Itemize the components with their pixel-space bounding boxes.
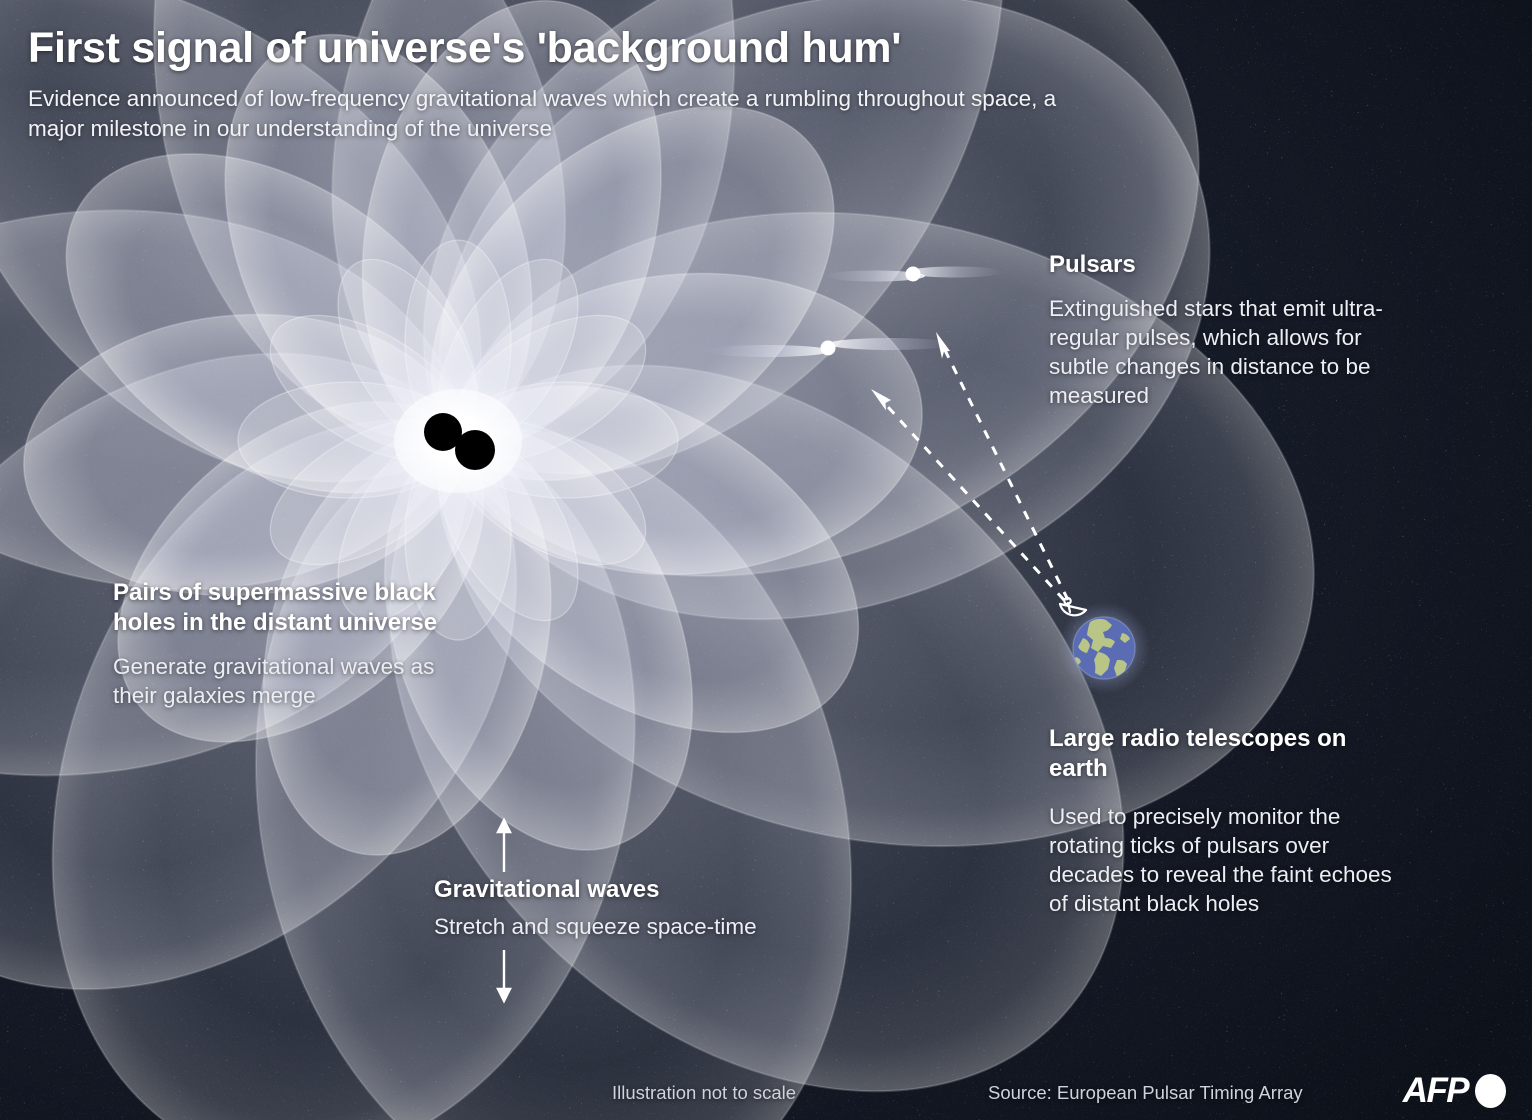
annotation-gravitational-waves-heading: Gravitational waves (434, 875, 854, 905)
afp-logo-text: AFP (1403, 1073, 1468, 1108)
page-title: First signal of universe's 'background h… (28, 26, 1148, 71)
source-credit: Source: European Pulsar Timing Array (988, 1082, 1303, 1104)
page-subtitle: Evidence announced of low-frequency grav… (28, 84, 1088, 143)
afp-dot-icon (1475, 1074, 1506, 1108)
annotation-black-holes-heading: Pairs of supermassive black holes in the… (113, 578, 443, 638)
illustration-scale-note: Illustration not to scale (612, 1082, 796, 1104)
annotation-pulsars-heading: Pulsars (1049, 250, 1409, 280)
annotation-black-holes: Pairs of supermassive black holes in the… (113, 578, 443, 711)
header-block: First signal of universe's 'background h… (28, 26, 1148, 143)
footer-block: Illustration not to scale Source: Europe… (0, 1060, 1532, 1120)
annotation-gravitational-waves-body: Stretch and squeeze space-time (434, 912, 854, 941)
infographic-canvas: First signal of universe's 'background h… (0, 0, 1532, 1120)
annotation-telescopes-body: Used to precisely monitor the rotating t… (1049, 803, 1394, 919)
annotation-black-holes-body: Generate gravitational waves as their ga… (113, 652, 443, 710)
annotation-telescopes: Large radio telescopes on earth Used to … (1049, 724, 1394, 919)
annotation-pulsars: Pulsars Extinguished stars that emit ult… (1049, 250, 1409, 410)
annotation-telescopes-heading: Large radio telescopes on earth (1049, 724, 1394, 784)
afp-logo: AFP (1403, 1073, 1506, 1108)
annotation-gravitational-waves: Gravitational waves Stretch and squeeze … (434, 875, 854, 941)
annotation-pulsars-body: Extinguished stars that emit ultra-regul… (1049, 294, 1409, 410)
